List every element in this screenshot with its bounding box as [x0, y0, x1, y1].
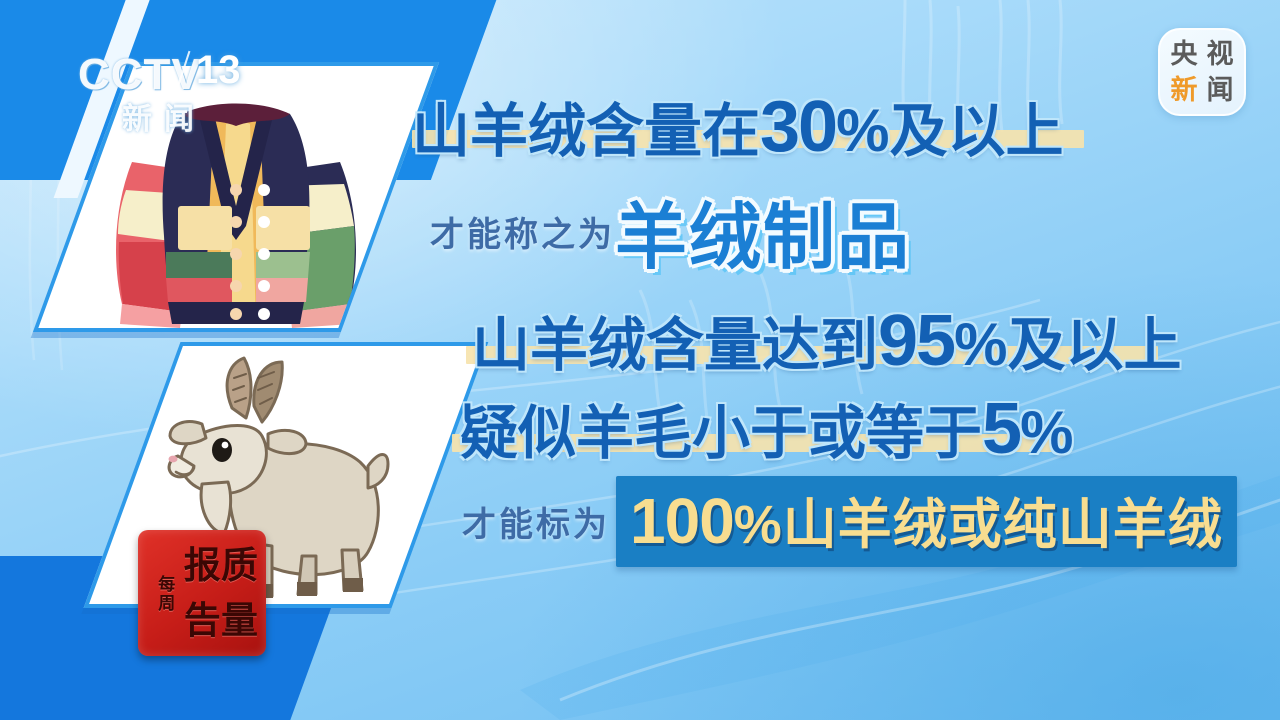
line-3-percent-sign: %	[954, 311, 1007, 378]
line-5-prefix: 才能标为	[462, 497, 610, 546]
statement-line-2: 才能称之为羊绒制品	[430, 178, 911, 283]
line-4-text-prefix: 疑似羊毛小于或等于	[460, 401, 982, 466]
seal-char-mei: 每	[156, 575, 173, 592]
statement-line-3: 山羊绒含量达到95%及以上	[472, 298, 1181, 382]
line-5-banner: 100%山羊绒或纯山羊绒	[616, 476, 1237, 567]
line-5-banner-percent: %	[734, 495, 783, 555]
statement-line-1: 山羊绒含量在30%及以上	[412, 84, 1063, 168]
program-seal-quality-report: 报 质 每 周 告 量	[138, 530, 266, 656]
seal-char-zhou: 周	[156, 594, 173, 611]
line-3-text-prefix: 山羊绒含量达到	[472, 313, 878, 378]
seal-char-liang: 量	[221, 593, 258, 648]
seal-char-bao: 报	[184, 538, 222, 593]
broadcast-graphic-stage: CCTV 13 新闻 央 视 新 闻 报 质 每 周 告 量 山羊绒含量在30%…	[0, 0, 1280, 720]
line-5-banner-number: 100	[630, 485, 734, 557]
line-3-text-suffix: 及以上	[1007, 313, 1181, 378]
seal-char-gao: 告	[184, 593, 222, 648]
line-4-value: 5	[982, 389, 1020, 469]
line-1-text-suffix: 及以上	[889, 99, 1063, 164]
statistics-text-block: 山羊绒含量在30%及以上 才能称之为羊绒制品 山羊绒含量达到95%及以上 疑似羊…	[404, 84, 1264, 604]
line-1-value: 30	[760, 87, 836, 167]
statement-line-5: 才能标为 100%山羊绒或纯山羊绒	[462, 476, 1237, 567]
badge-char-yang: 央	[1166, 36, 1202, 72]
badge-char-shi: 视	[1202, 36, 1238, 72]
line-3-value: 95	[878, 301, 954, 381]
line-1-text-prefix: 山羊绒含量在	[412, 99, 760, 164]
line-2-prefix: 才能称之为	[430, 216, 615, 254]
cardigan-sweater-illustration	[86, 66, 386, 328]
line-2-emphasis: 羊绒制品	[615, 198, 911, 278]
line-4-percent-sign: %	[1020, 399, 1073, 466]
statement-line-4: 疑似羊毛小于或等于5%	[460, 386, 1073, 470]
line-1-percent-sign: %	[836, 97, 889, 164]
line-5-banner-text: 山羊绒或纯山羊绒	[783, 495, 1223, 555]
seal-side-column: 每 周	[146, 538, 184, 648]
goat-eye	[212, 438, 232, 462]
seal-char-zhi: 质	[221, 538, 258, 593]
